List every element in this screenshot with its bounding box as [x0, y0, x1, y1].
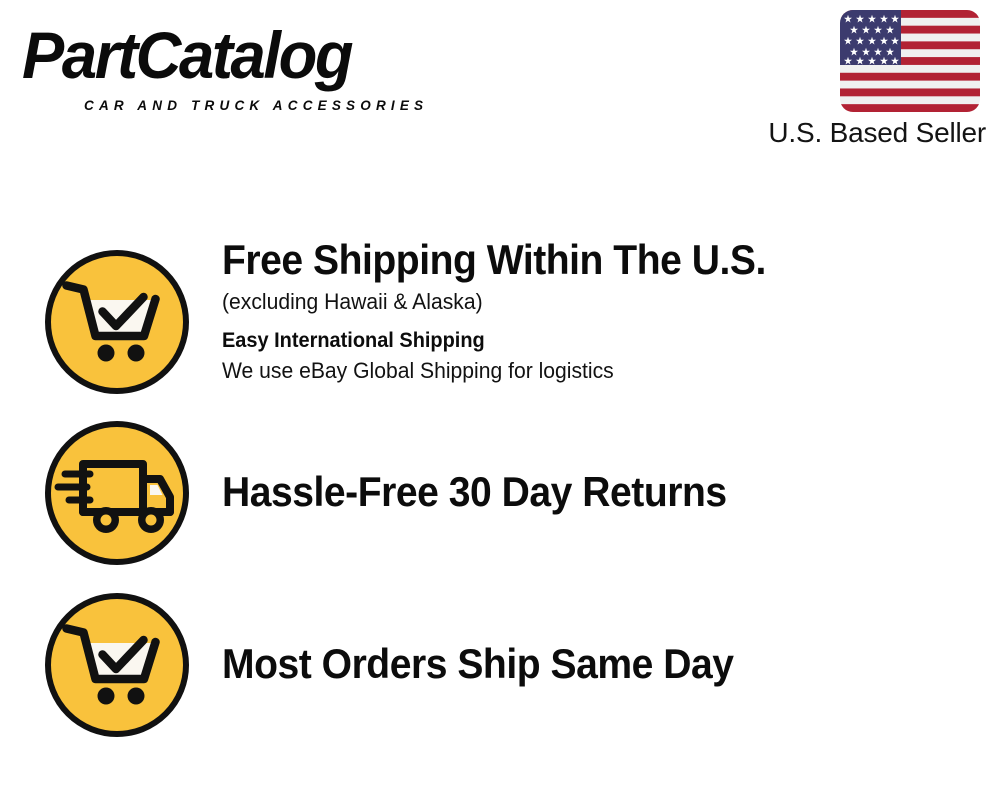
- shopping-cart-check-icon: [43, 591, 191, 739]
- seller-location-label: U.S. Based Seller: [768, 117, 986, 149]
- us-flag-icon: [840, 10, 980, 112]
- feature-headline: Hassle-Free 30 Day Returns: [222, 469, 727, 515]
- feature-headline: Most Orders Ship Same Day: [222, 641, 734, 687]
- feature-subline: (excluding Hawaii & Alaska): [222, 287, 783, 317]
- brand-tagline: CAR AND TRUCK ACCESSORIES: [84, 98, 428, 113]
- feature-headline: Free Shipping Within The U.S.: [222, 237, 766, 283]
- brand-wordmark: PartCatalog: [22, 22, 473, 88]
- feature-text-same-day: Most Orders Ship Same Day: [222, 641, 772, 687]
- shopping-cart-check-icon: [43, 248, 191, 396]
- feature-sub-heading: Easy International Shipping: [222, 326, 778, 356]
- feature-text-free-shipping: Free Shipping Within The U.S. (excluding…: [222, 237, 807, 386]
- feature-text-returns: Hassle-Free 30 Day Returns: [222, 469, 765, 515]
- page-header: PartCatalog CAR AND TRUCK ACCESSORIES: [0, 0, 1000, 170]
- feature-sub-detail: We use eBay Global Shipping for logistic…: [222, 356, 783, 386]
- brand-logo[interactable]: PartCatalog CAR AND TRUCK ACCESSORIES: [22, 22, 492, 112]
- delivery-truck-icon: [43, 419, 191, 567]
